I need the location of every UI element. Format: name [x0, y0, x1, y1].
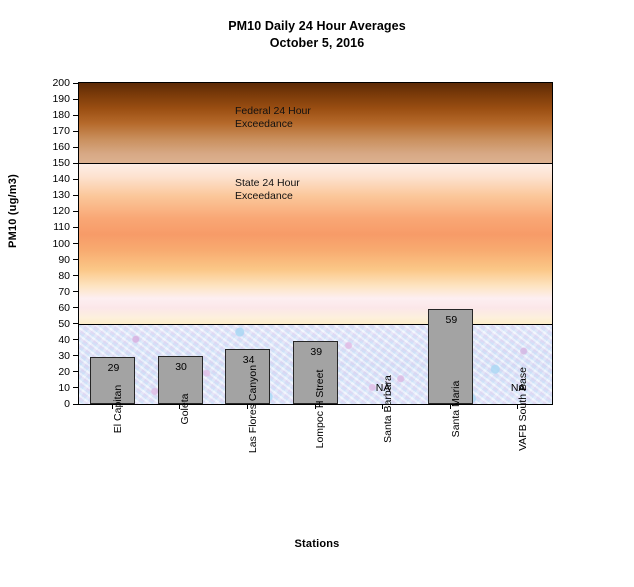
y-axis-tick-label: 200	[52, 77, 70, 89]
x-axis-label-text: Santa Maria	[450, 381, 462, 438]
bar-slot: 34	[214, 83, 282, 404]
bar-slot: NA	[349, 83, 417, 404]
y-axis-tick-label: 160	[52, 141, 70, 153]
x-axis-label-text: Santa Barbara	[382, 375, 394, 443]
x-axis-title: Stations	[0, 538, 634, 550]
bar-value-label: 59	[429, 314, 474, 326]
chart-title-main: PM10 Daily 24 Hour Averages	[228, 19, 406, 33]
x-axis-label-text: Lompoc H Street	[314, 370, 326, 449]
bar-slot: 59	[417, 83, 485, 404]
bar-value-label: 29	[91, 362, 136, 374]
y-axis-tick-label: 150	[52, 157, 70, 169]
x-axis-label: Santa Barbara	[348, 409, 416, 519]
y-axis-tick-label: 80	[58, 270, 70, 282]
x-axis-labels: El CapitanGoletaLas Flores CanyonLompoc …	[78, 409, 553, 519]
y-axis-tick-label: 20	[58, 366, 70, 378]
x-axis-label: Goleta	[146, 409, 214, 519]
bar-value-label: 39	[294, 346, 339, 358]
x-axis-label: El Capitan	[78, 409, 146, 519]
y-axis-tick-label: 30	[58, 350, 70, 362]
y-axis-tick-label: 180	[52, 109, 70, 121]
y-axis-tick-label: 50	[58, 318, 70, 330]
bars-layer: 29303439NA59NA	[79, 83, 552, 404]
y-axis-tick-label: 130	[52, 189, 70, 201]
x-axis-label: Lompoc H Street	[281, 409, 349, 519]
y-axis-tick-label: 170	[52, 125, 70, 137]
y-axis-tick-label: 0	[64, 398, 70, 410]
bar-slot: 29	[79, 83, 147, 404]
bar-slot: 39	[282, 83, 350, 404]
bar-slot: 30	[147, 83, 215, 404]
x-axis-label-text: VAFB South Base	[517, 367, 529, 451]
y-axis-tick-label: 100	[52, 238, 70, 250]
x-axis-label-text: Goleta	[179, 394, 191, 425]
page-title: PM10 Daily 24 Hour Averages October 5, 2…	[0, 18, 634, 52]
y-axis-tick-label: 190	[52, 93, 70, 105]
bar-slot: NA	[484, 83, 552, 404]
x-axis-label: VAFB South Base	[483, 409, 551, 519]
y-axis-tick-label: 120	[52, 205, 70, 217]
bar-value-label: 30	[159, 361, 204, 373]
y-axis-tick-label: 110	[53, 221, 70, 233]
y-axis-tick-label: 70	[58, 286, 70, 298]
x-axis-label-text: El Capitan	[112, 385, 124, 433]
y-axis-tick-label: 60	[58, 302, 70, 314]
y-axis-tick-label: 10	[58, 382, 70, 394]
y-axis-tick-label: 90	[58, 254, 70, 266]
chart-title-date: October 5, 2016	[0, 35, 634, 52]
y-axis-tick-label: 40	[58, 334, 70, 346]
x-axis-label: Las Flores Canyon	[213, 409, 281, 519]
y-axis-tick-label: 140	[52, 173, 70, 185]
plot-area: Federal 24 Hour Exceedance State 24 Hour…	[78, 82, 553, 405]
x-axis-label: Santa Maria	[416, 409, 484, 519]
y-axis-ticks: 2001901801701601501401301201101009080706…	[0, 82, 78, 404]
x-axis-label-text: Las Flores Canyon	[247, 365, 259, 453]
